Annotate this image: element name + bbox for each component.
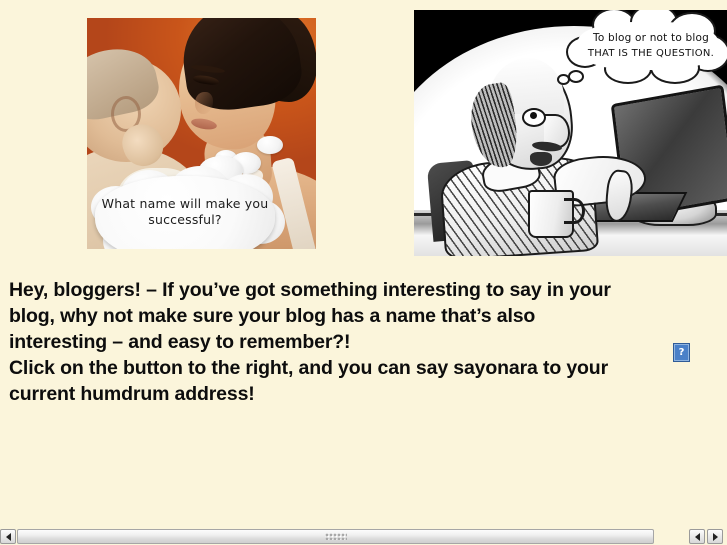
- scrollbar-arrow-group[interactable]: [689, 529, 723, 544]
- horizontal-scrollbar[interactable]: [0, 528, 727, 545]
- shakespeare-blogging-cartoon: To blog or not to blog THAT IS THE QUEST…: [414, 10, 727, 256]
- body-copy-line-3: interesting – and easy to remember?!: [9, 329, 649, 355]
- missing-image-placeholder-icon[interactable]: ?: [673, 343, 690, 362]
- cartoon-thought-bubble-fill: [578, 22, 718, 70]
- body-copy-line-4: Click on the button to the right, and yo…: [9, 355, 649, 381]
- chevron-left-icon: [6, 533, 11, 541]
- scrollbar-step-right-button[interactable]: [707, 529, 723, 544]
- scrollbar-left-arrow-button[interactable]: [0, 529, 16, 544]
- cartoon-thought-trail-dot: [568, 70, 584, 83]
- coffee-mug-handle: [564, 198, 585, 224]
- scrollbar-track[interactable]: [17, 529, 688, 544]
- shakespeare-pupil: [530, 112, 537, 119]
- cartoon-thought-trail-dot: [557, 74, 570, 85]
- cartoon-thought-line-2: THAT IS THE QUESTION.: [580, 48, 722, 59]
- thought-bubble-line-2: successful?: [97, 212, 273, 228]
- body-copy-line-2: blog, why not make sure your blog has a …: [9, 303, 649, 329]
- cartoon-thought-line-1: To blog or not to blog: [580, 32, 722, 44]
- body-copy: Hey, bloggers! – If you’ve got something…: [9, 277, 649, 407]
- scrollbar-step-left-button[interactable]: [689, 529, 705, 544]
- body-copy-line-1: Hey, bloggers! – If you’ve got something…: [9, 277, 649, 303]
- scrollbar-grip-icon: [325, 533, 347, 540]
- missing-image-glyph: ?: [679, 348, 685, 358]
- shakespeare-beard: [530, 152, 552, 166]
- page-canvas: What name will make you successful?: [0, 0, 727, 545]
- thought-bubble-text: What name will make you successful?: [97, 196, 273, 228]
- thought-puff-small: [257, 136, 283, 154]
- scrollbar-thumb[interactable]: [17, 529, 654, 544]
- thought-bubble-line-1: What name will make you: [97, 196, 273, 212]
- mother-and-baby-photo: What name will make you successful?: [87, 18, 316, 249]
- chevron-right-icon: [713, 533, 718, 541]
- body-copy-line-5: current humdrum address!: [9, 381, 649, 407]
- chevron-left-icon: [695, 533, 700, 541]
